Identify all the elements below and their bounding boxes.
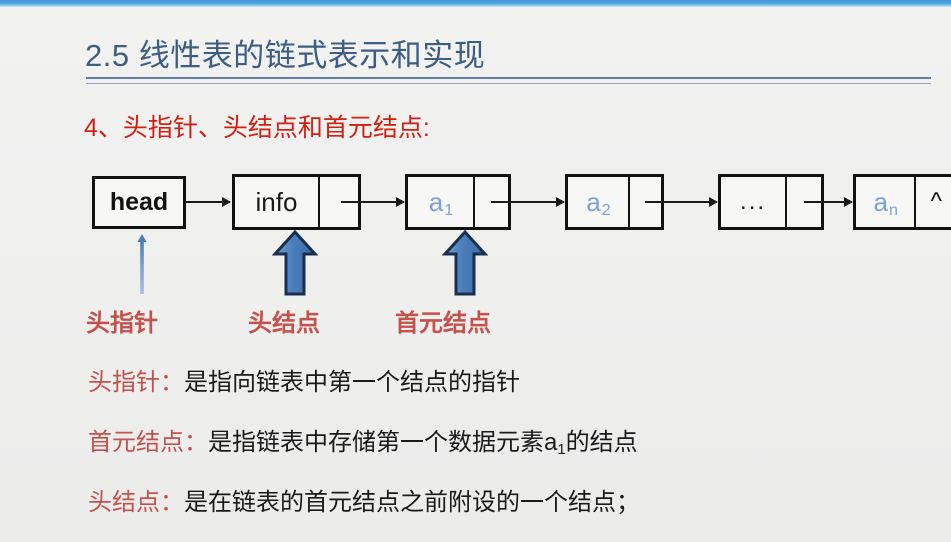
node-info-data: info bbox=[235, 177, 318, 227]
caption-head-node: 头结点 bbox=[248, 303, 320, 338]
definition-tail-first-element-node: 的结点 bbox=[566, 429, 638, 456]
block-up-arrow-icon-first-node bbox=[442, 230, 488, 296]
definition-term-head-node: 头结点： bbox=[88, 489, 184, 516]
node-a2-data: a2 bbox=[568, 177, 628, 227]
definition-first-element-node: 首元结点：是指链表中存储第一个数据元素a1的结点 bbox=[88, 422, 638, 457]
connector-arrow-info-to-a1 bbox=[341, 201, 404, 203]
definition-head-pointer: 头指针：是指向链表中第一个结点的指针 bbox=[88, 362, 520, 397]
node-an-data: an bbox=[856, 177, 914, 227]
node-an-null-pointer: ^ bbox=[914, 177, 951, 227]
linked-list-diagram: head info a1 a2 ... bbox=[0, 0, 951, 542]
caption-head-pointer: 头指针 bbox=[86, 303, 158, 338]
node-a1-data: a1 bbox=[408, 177, 473, 227]
thin-up-arrow-icon bbox=[137, 234, 147, 294]
definition-term-head-pointer: 头指针： bbox=[88, 369, 184, 396]
connector-arrow-a2-to-ellipsis bbox=[645, 201, 717, 203]
definition-body-head-pointer: 是指向链表中第一个结点的指针 bbox=[184, 369, 520, 396]
block-up-arrow-icon-head-node bbox=[272, 230, 318, 296]
element-an: an bbox=[873, 189, 896, 215]
definition-subscript-first-element-node: 1 bbox=[557, 442, 565, 458]
definition-body-first-element-node: 是指链表中存储第一个数据元素a bbox=[208, 429, 557, 456]
definition-term-first-element-node: 首元结点： bbox=[88, 429, 208, 456]
definition-head-node: 头结点：是在链表的首元结点之前附设的一个结点； bbox=[88, 482, 640, 517]
slide-canvas: 2.5 线性表的链式表示和实现 4、头指针、头结点和首元结点: head inf… bbox=[0, 0, 951, 542]
connector-arrow-head-to-info bbox=[186, 201, 230, 203]
connector-arrow-a1-to-a2 bbox=[491, 201, 564, 203]
node-ellipsis-data: ... bbox=[721, 177, 785, 227]
definition-body-head-node: 是在链表的首元结点之前附设的一个结点； bbox=[184, 489, 640, 516]
element-a2: a2 bbox=[586, 189, 609, 215]
head-pointer-label: head bbox=[95, 179, 183, 226]
connector-arrow-ellipsis-to-an bbox=[804, 201, 852, 203]
caption-first-element-node: 首元结点 bbox=[395, 303, 491, 338]
element-a1: a1 bbox=[429, 189, 452, 215]
list-node-an: an ^ bbox=[853, 174, 951, 230]
head-pointer-box: head bbox=[92, 176, 186, 229]
